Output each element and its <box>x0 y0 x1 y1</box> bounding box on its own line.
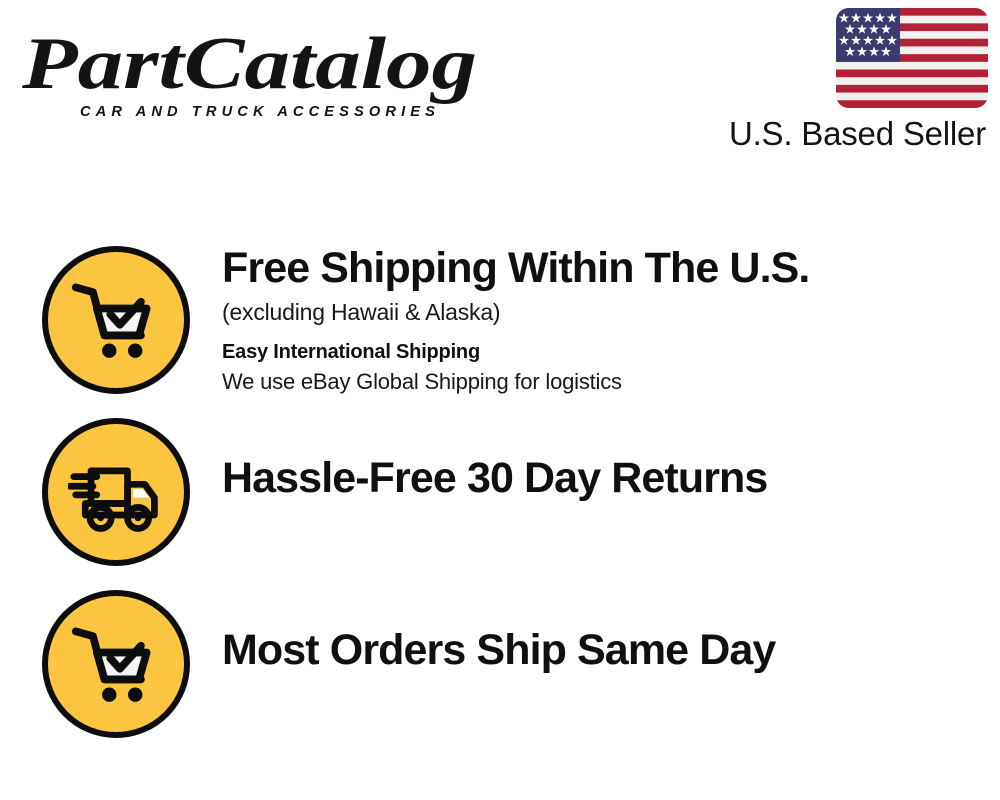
feature-sub-regular: We use eBay Global Shipping for logistic… <box>222 368 982 397</box>
feature-row-same-day: Most Orders Ship Same Day <box>0 590 1000 762</box>
feature-row-free-shipping: Free Shipping Within The U.S. (excluding… <box>0 246 1000 418</box>
delivery-truck-icon-badge <box>42 418 190 566</box>
us-based-seller: U.S. Based Seller <box>688 8 988 152</box>
partcatalog-wordmark-icon: PartCatalog CAR AND TRUCK ACCESSORIES <box>22 22 492 122</box>
delivery-truck-icon <box>68 444 164 540</box>
feature-sub-bold: Easy International Shipping <box>222 340 982 365</box>
brand-name-glyphs: PartCatalog <box>22 23 477 105</box>
feature-headline: Hassle-Free 30 Day Returns <box>222 456 982 501</box>
brand-tagline-glyphs: CAR AND TRUCK ACCESSORIES <box>80 103 440 120</box>
us-flag-icon <box>836 8 988 108</box>
seller-label: U.S. Based Seller <box>688 116 988 152</box>
brand-logo: PartCatalog CAR AND TRUCK ACCESSORIES <box>22 22 492 122</box>
feature-text-block: Most Orders Ship Same Day <box>222 628 982 673</box>
feature-text-block: Free Shipping Within The U.S. (excluding… <box>222 246 982 396</box>
shopping-cart-check-icon <box>68 272 164 368</box>
feature-headline: Most Orders Ship Same Day <box>222 628 982 673</box>
feature-headline: Free Shipping Within The U.S. <box>222 246 982 291</box>
feature-subline: (excluding Hawaii & Alaska) <box>222 298 982 327</box>
flag-wrapper <box>688 8 988 108</box>
feature-list: Free Shipping Within The U.S. (excluding… <box>0 246 1000 762</box>
promo-banner: PartCatalog CAR AND TRUCK ACCESSORIES <box>0 0 1000 800</box>
shopping-cart-check-icon-badge <box>42 246 190 394</box>
feature-row-returns: Hassle-Free 30 Day Returns <box>0 418 1000 590</box>
shopping-cart-check-icon-badge <box>42 590 190 738</box>
shopping-cart-check-icon <box>68 616 164 712</box>
feature-text-block: Hassle-Free 30 Day Returns <box>222 456 982 501</box>
